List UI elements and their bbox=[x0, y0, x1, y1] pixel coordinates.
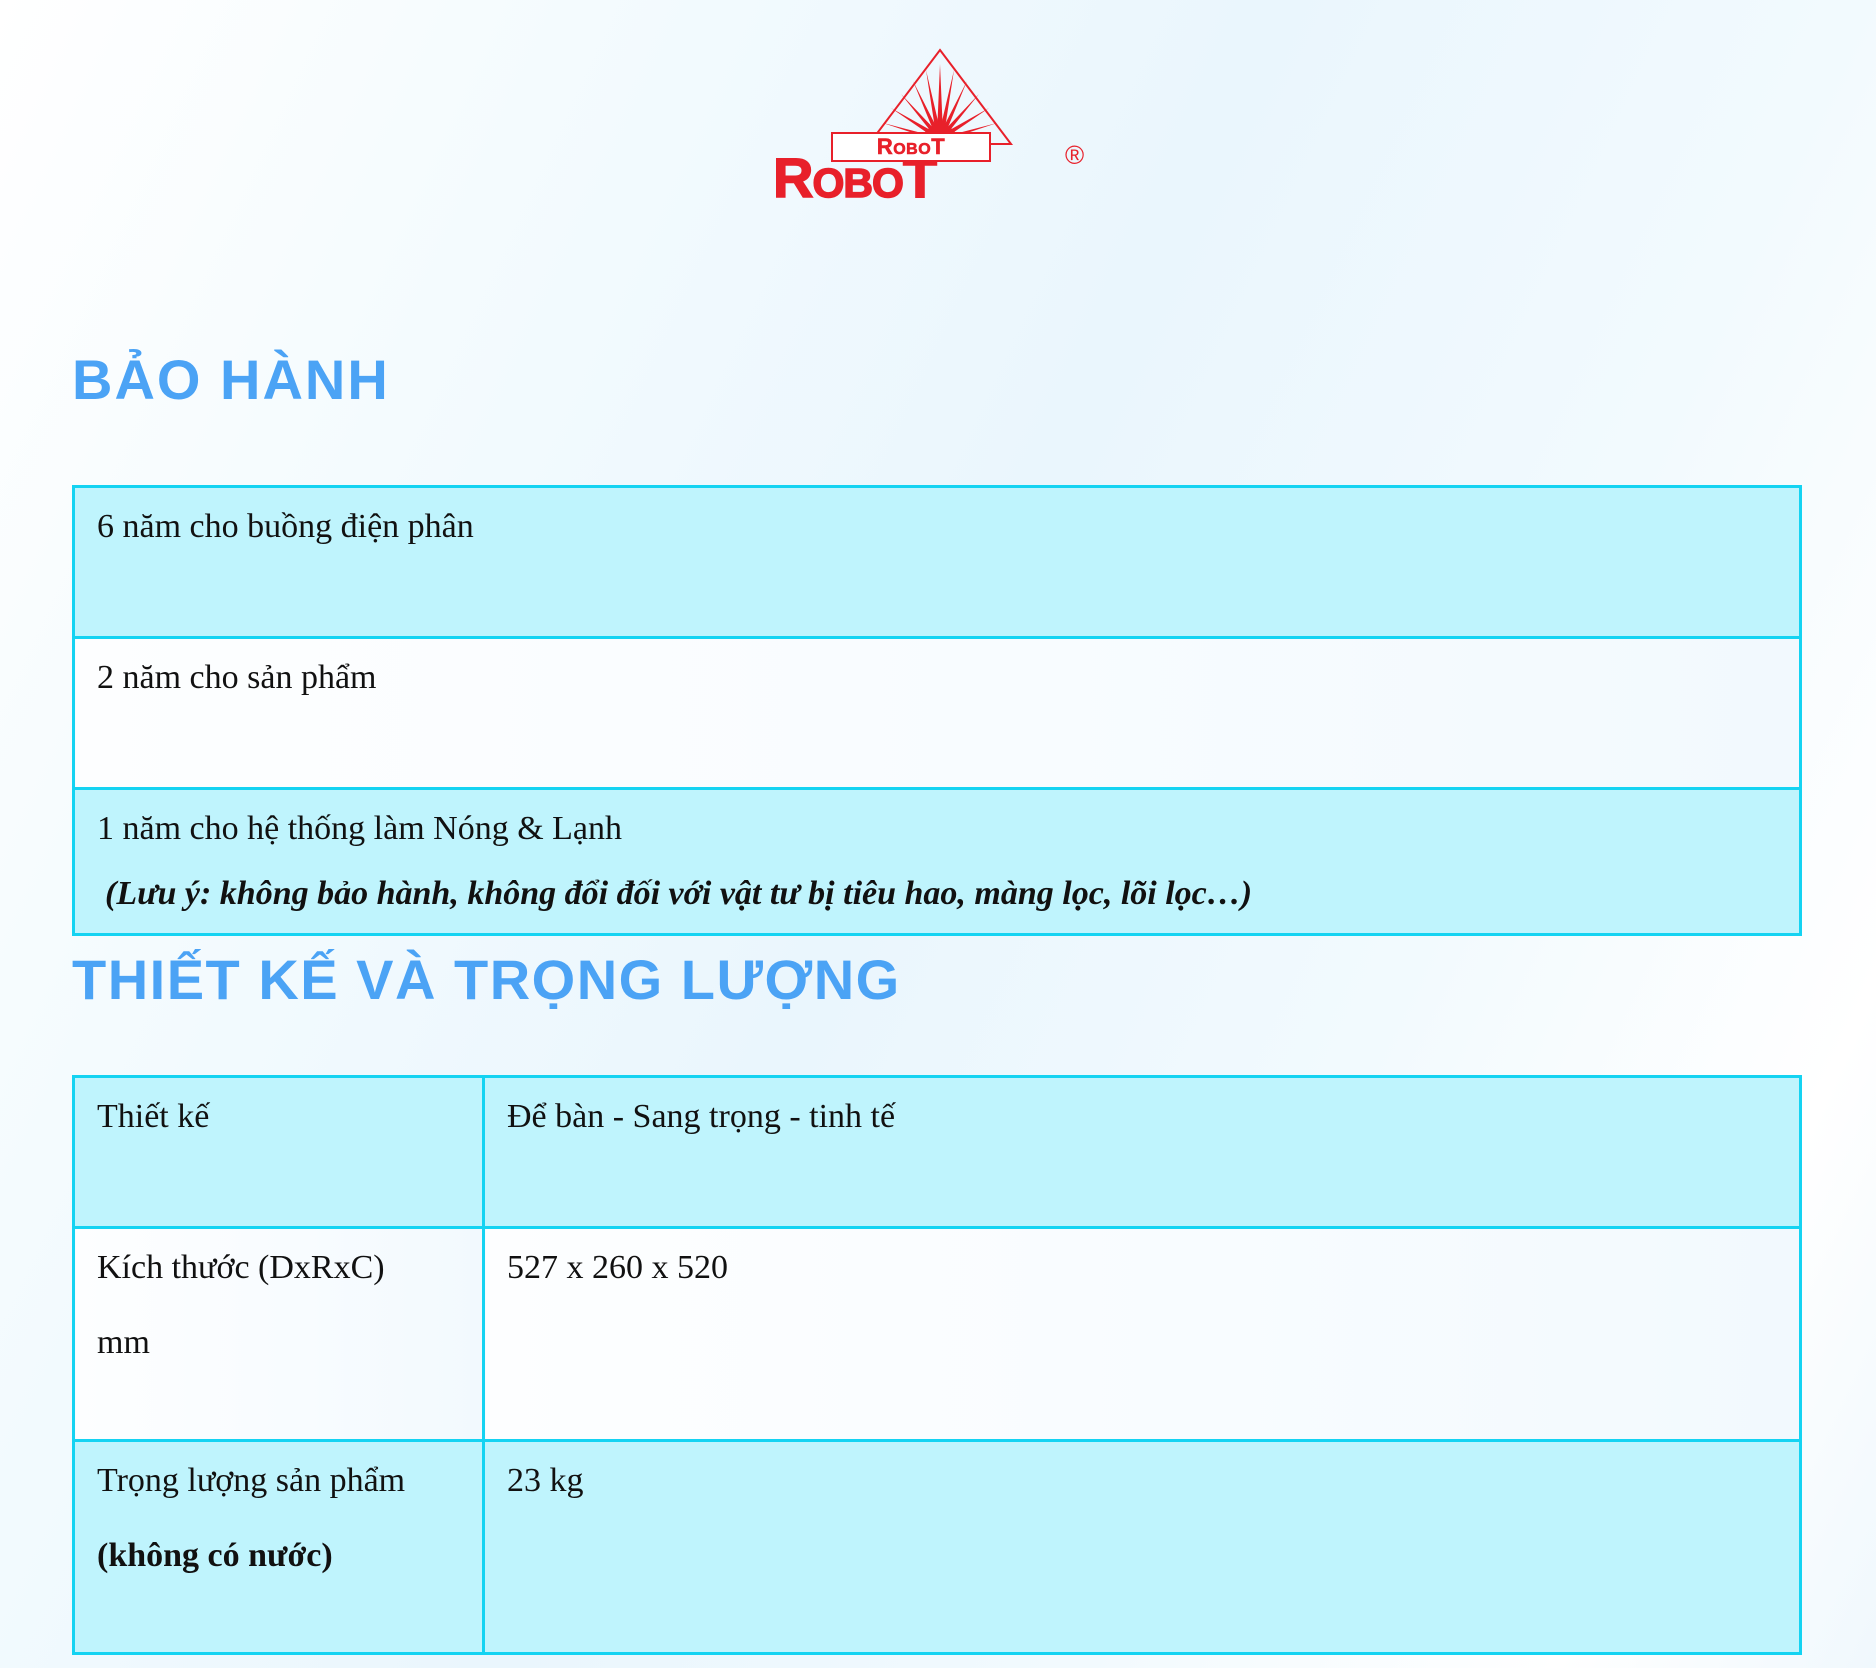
product-spec-page: ROBOT ROBOT ® BẢO HÀNH 6 năm cho buồng đ… bbox=[0, 0, 1876, 1668]
table-row: Trọng lượng sản phẩm (không có nước) 23 … bbox=[74, 1441, 1801, 1654]
table-row: Kích thước (DxRxC) mm 527 x 260 x 520 bbox=[74, 1228, 1801, 1441]
design-value-text-1: 527 x 260 x 520 bbox=[507, 1249, 728, 1286]
table-row: 1 năm cho hệ thống làm Nóng & Lạnh (Lưu … bbox=[74, 789, 1801, 935]
section-heading-design: THIẾT KẾ VÀ TRỌNG LƯỢNG bbox=[72, 952, 901, 1008]
warranty-text-0: 6 năm cho buồng điện phân bbox=[97, 508, 474, 545]
design-label-sub-2: (không có nước) bbox=[97, 1531, 464, 1580]
logo-badge-text: ROBOT bbox=[877, 136, 945, 158]
warranty-note: (Lưu ý: không bảo hành, không đổi đối vớ… bbox=[97, 869, 1781, 918]
design-label-text-2: Trọng lượng sản phẩm bbox=[97, 1462, 405, 1499]
design-label-text-0: Thiết kế bbox=[97, 1098, 209, 1135]
warranty-text-1: 2 năm cho sản phẩm bbox=[97, 659, 377, 696]
logo-badge: ROBOT bbox=[831, 132, 991, 162]
warranty-cell-0: 6 năm cho buồng điện phân bbox=[74, 487, 1801, 638]
logo-group: ROBOT ROBOT ® bbox=[773, 46, 1103, 191]
warranty-text-2: 1 năm cho hệ thống làm Nóng & Lạnh bbox=[97, 810, 622, 847]
design-value-text-2: 23 kg bbox=[507, 1462, 584, 1499]
design-label-sub-1: mm bbox=[97, 1318, 464, 1367]
warranty-cell-1: 2 năm cho sản phẩm bbox=[74, 638, 1801, 789]
design-value-text-0: Để bàn - Sang trọng - tinh tế bbox=[507, 1098, 895, 1135]
design-label-0: Thiết kế bbox=[74, 1077, 484, 1228]
design-value-2: 23 kg bbox=[484, 1441, 1801, 1654]
brand-logo: ROBOT ROBOT ® bbox=[0, 46, 1876, 191]
design-label-2: Trọng lượng sản phẩm (không có nước) bbox=[74, 1441, 484, 1654]
design-weight-table: Thiết kế Để bàn - Sang trọng - tinh tế K… bbox=[72, 1075, 1802, 1655]
section-heading-warranty: BẢO HÀNH bbox=[72, 352, 390, 408]
table-row: 6 năm cho buồng điện phân bbox=[74, 487, 1801, 638]
robot-pyramid-sunburst-icon bbox=[865, 46, 1015, 146]
warranty-table: 6 năm cho buồng điện phân 2 năm cho sản … bbox=[72, 485, 1802, 936]
design-value-0: Để bàn - Sang trọng - tinh tế bbox=[484, 1077, 1801, 1228]
design-label-1: Kích thước (DxRxC) mm bbox=[74, 1228, 484, 1441]
design-label-text-1: Kích thước (DxRxC) bbox=[97, 1249, 385, 1286]
table-row: Thiết kế Để bàn - Sang trọng - tinh tế bbox=[74, 1077, 1801, 1228]
table-row: 2 năm cho sản phẩm bbox=[74, 638, 1801, 789]
design-value-1: 527 x 260 x 520 bbox=[484, 1228, 1801, 1441]
warranty-cell-2: 1 năm cho hệ thống làm Nóng & Lạnh (Lưu … bbox=[74, 789, 1801, 935]
